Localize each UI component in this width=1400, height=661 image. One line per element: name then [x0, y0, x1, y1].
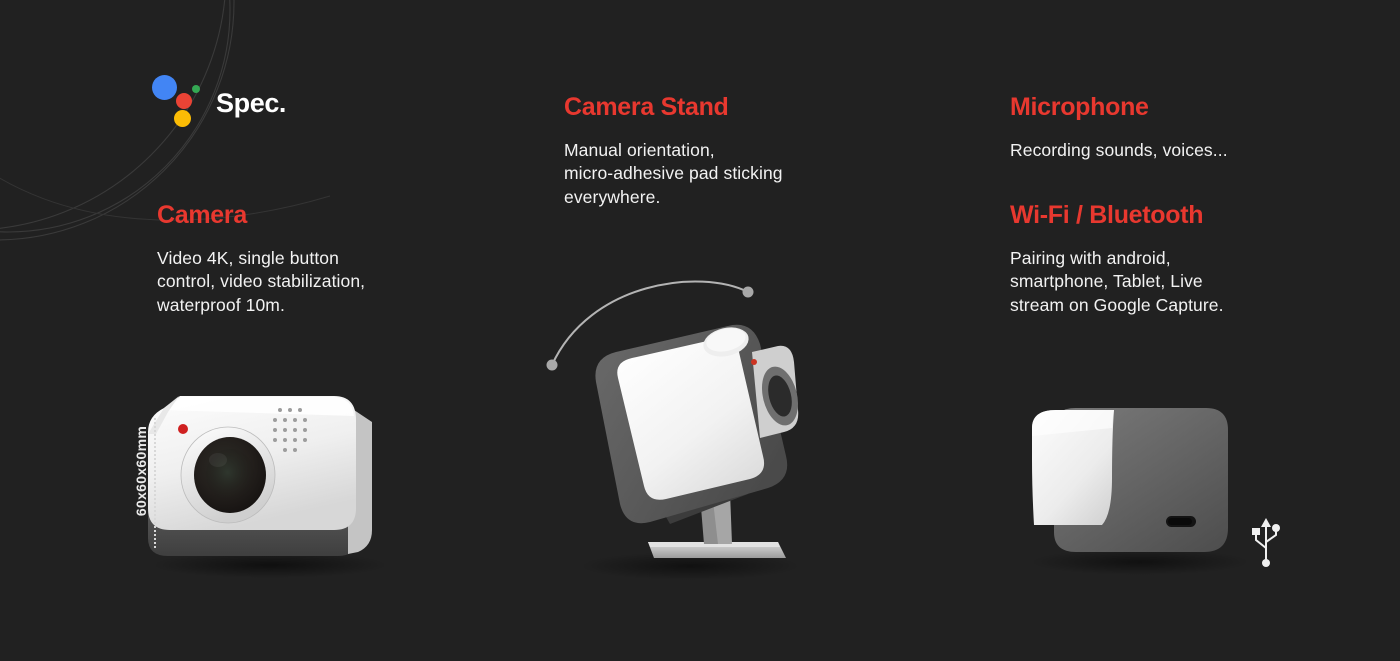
lens-barrel: [752, 346, 804, 438]
blue-dot: [152, 75, 177, 100]
page-title: Spec.: [216, 88, 286, 119]
google-assistant-logo: [150, 70, 204, 124]
section-heading-microphone: Microphone: [1010, 94, 1340, 122]
section-heading-camera-stand: Camera Stand: [564, 94, 894, 122]
green-dot: [192, 85, 200, 93]
section-microphone: Microphone Recording sounds, voices...: [1010, 94, 1340, 162]
dimension-label: 60x60x60mm: [133, 406, 149, 536]
brand-lockup: Spec.: [150, 70, 286, 124]
section-body-camera-stand: Manual orientation, micro-adhesive pad s…: [564, 139, 894, 210]
section-heading-wifi-bluetooth: Wi-Fi / Bluetooth: [1010, 202, 1340, 230]
led-indicator: [178, 424, 188, 434]
spec-sheet-page: Spec. Camera Video 4K, single button con…: [0, 0, 1400, 661]
led-indicator: [751, 359, 757, 365]
section-heading-camera: Camera: [157, 202, 457, 230]
red-dot: [176, 93, 192, 109]
usb-c-port: [1166, 516, 1196, 527]
dimension-annotation: 60x60x60mm: [118, 408, 168, 558]
section-body-wifi-bluetooth: Pairing with android, smartphone, Tablet…: [1010, 247, 1340, 318]
usb-icon: [1250, 518, 1282, 568]
section-camera-stand: Camera Stand Manual orientation, micro-a…: [564, 94, 894, 210]
section-wifi-bluetooth: Wi-Fi / Bluetooth Pairing with android, …: [1010, 202, 1340, 318]
section-body-microphone: Recording sounds, voices...: [1010, 139, 1340, 163]
camera-stand-render: [530, 270, 830, 580]
yellow-dot: [174, 110, 191, 127]
dimension-dotted-line: [154, 418, 156, 548]
section-body-camera: Video 4K, single button control, video s…: [157, 247, 457, 318]
section-camera: Camera Video 4K, single button control, …: [157, 202, 457, 318]
